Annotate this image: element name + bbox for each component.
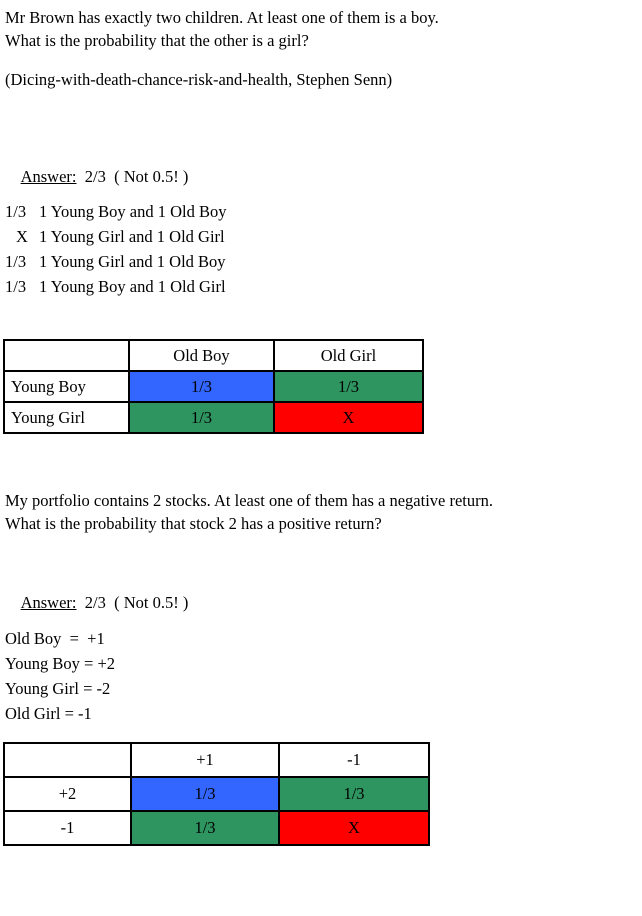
table1-row-header-1: Young Boy [4,371,129,402]
problem1-statement-line2: What is the probability that the other i… [5,29,309,52]
enumeration-description: 1 Young Boy and 1 Old Girl [39,277,226,296]
table-row: Young Boy 1/3 1/3 [4,371,423,402]
problem1-statement-line1: Mr Brown has exactly two children. At le… [5,6,439,29]
table2-column-header-1: +1 [131,743,279,777]
list-item: Old Boy = +1 [5,626,115,651]
problem1-answer-note: ( Not 0.5! ) [114,167,188,186]
table1-cell-r1c1: 1/3 [129,371,274,402]
table2-cell-r2c2: X [279,811,429,845]
problem2-answer-note: ( Not 0.5! ) [114,593,188,612]
problem2-mapping-list: Old Boy = +1 Young Boy = +2 Young Girl =… [5,626,115,726]
table2-cell-r1c1: 1/3 [131,777,279,811]
list-item: 1/31 Young Boy and 1 Old Girl [5,274,227,299]
problem1-source-citation: (Dicing-with-death-chance-risk-and-healt… [5,68,392,91]
list-item: 1/31 Young Girl and 1 Old Boy [5,249,227,274]
list-item: Young Boy = +2 [5,651,115,676]
problem1-answer-value: 2/3 [85,167,106,186]
table2-row-header-2: -1 [4,811,131,845]
table-row: -1 1/3 X [4,811,429,845]
problem1-enumeration-list: 1/31 Young Boy and 1 Old Boy X1 Young Gi… [5,199,227,299]
table2-cell-r1c2: 1/3 [279,777,429,811]
table1-column-header-1: Old Boy [129,340,274,371]
enumeration-probability: 1/3 [5,249,39,274]
answer-spacer-2 [106,167,114,186]
document-page: Mr Brown has exactly two children. At le… [0,0,642,916]
enumeration-description: 1 Young Boy and 1 Old Boy [39,202,227,221]
answer-spacer-1 [77,167,85,186]
table1-row-header-2: Young Girl [4,402,129,433]
table2-corner-cell [4,743,131,777]
list-item: Old Girl = -1 [5,701,115,726]
enumeration-description: 1 Young Girl and 1 Old Boy [39,252,226,271]
table-row: +1 -1 [4,743,429,777]
list-item: Young Girl = -2 [5,676,115,701]
table1-column-header-2: Old Girl [274,340,423,371]
table2-cell-r2c1: 1/3 [131,811,279,845]
table2-row-header-1: +2 [4,777,131,811]
answer-spacer-3 [77,593,85,612]
list-item: 1/31 Young Boy and 1 Old Boy [5,199,227,224]
table1-cell-r2c2: X [274,402,423,433]
problem1-answer-label: Answer: [21,167,77,186]
enumeration-probability: 1/3 [5,274,39,299]
table-row: Young Girl 1/3 X [4,402,423,433]
table2-column-header-2: -1 [279,743,429,777]
enumeration-probability: 1/3 [5,199,39,224]
problem2-statement-line1: My portfolio contains 2 stocks. At least… [5,489,493,512]
list-item: X1 Young Girl and 1 Old Girl [5,224,227,249]
table-row: Old Boy Old Girl [4,340,423,371]
table1-cell-r2c1: 1/3 [129,402,274,433]
problem2-answer-label: Answer: [21,593,77,612]
problem2-statement-line2: What is the probability that stock 2 has… [5,512,382,535]
problem1-probability-table: Old Boy Old Girl Young Boy 1/3 1/3 Young… [3,339,424,434]
enumeration-probability: X [5,224,39,249]
table1-cell-r1c2: 1/3 [274,371,423,402]
problem2-probability-table: +1 -1 +2 1/3 1/3 -1 1/3 X [3,742,430,846]
problem2-answer-value: 2/3 [85,593,106,612]
table1-corner-cell [4,340,129,371]
table-row: +2 1/3 1/3 [4,777,429,811]
answer-spacer-4 [106,593,114,612]
enumeration-description: 1 Young Girl and 1 Old Girl [39,227,225,246]
